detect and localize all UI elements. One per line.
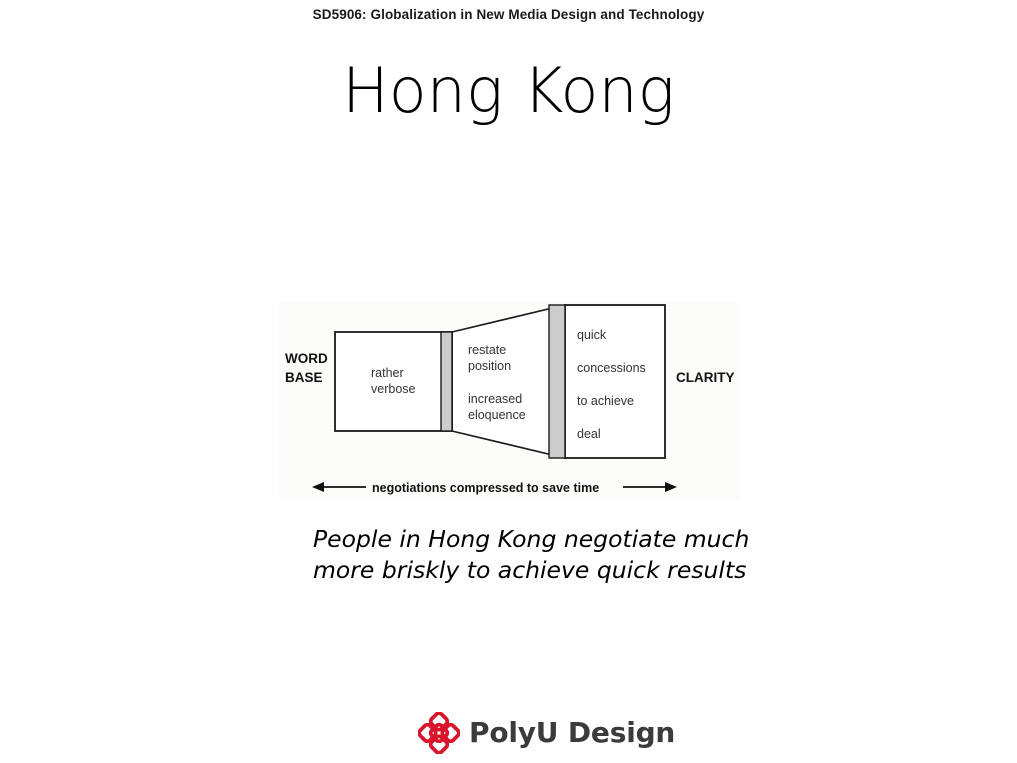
middle-text-line2: position <box>468 359 511 373</box>
polyu-design-logo: PolyU Design <box>418 712 675 754</box>
middle-text-line3: increased <box>468 392 522 406</box>
right-box-text-line4: deal <box>577 427 601 441</box>
right-box-text-line3: to achieve <box>577 394 634 408</box>
slide-caption-line2: more briskly to achieve quick results <box>313 555 783 586</box>
negotiation-funnel-diagram: WORD BASE rather verbose restate positio… <box>278 302 740 500</box>
divider-bar-right <box>549 305 565 458</box>
middle-text-line1: restate <box>468 343 506 357</box>
polyu-design-wordmark: PolyU Design <box>469 719 675 747</box>
funnel-trapezoid <box>452 305 565 458</box>
slide-caption: People in Hong Kong negotiate much more … <box>313 524 783 586</box>
clarity-label: CLARITY <box>676 370 735 385</box>
polyu-knot-icon <box>418 712 460 754</box>
compression-caption: negotiations compressed to save time <box>372 481 599 495</box>
right-box-text-line2: concessions <box>577 361 646 375</box>
slide-caption-line1: People in Hong Kong negotiate much <box>313 524 783 555</box>
right-box-text-line1: quick <box>577 328 607 342</box>
left-box-text-line2: verbose <box>371 382 416 396</box>
left-box-text-line1: rather <box>371 366 404 380</box>
page-title: Hong Kong <box>0 58 1017 123</box>
word-base-label-line2: BASE <box>285 370 323 385</box>
middle-text-line4: eloquence <box>468 408 526 422</box>
divider-bar-left <box>441 332 452 431</box>
slide-header: SD5906: Globalization in New Media Desig… <box>0 7 1017 22</box>
word-base-label-line1: WORD <box>285 351 328 366</box>
diagram-svg: WORD BASE rather verbose restate positio… <box>278 302 740 500</box>
